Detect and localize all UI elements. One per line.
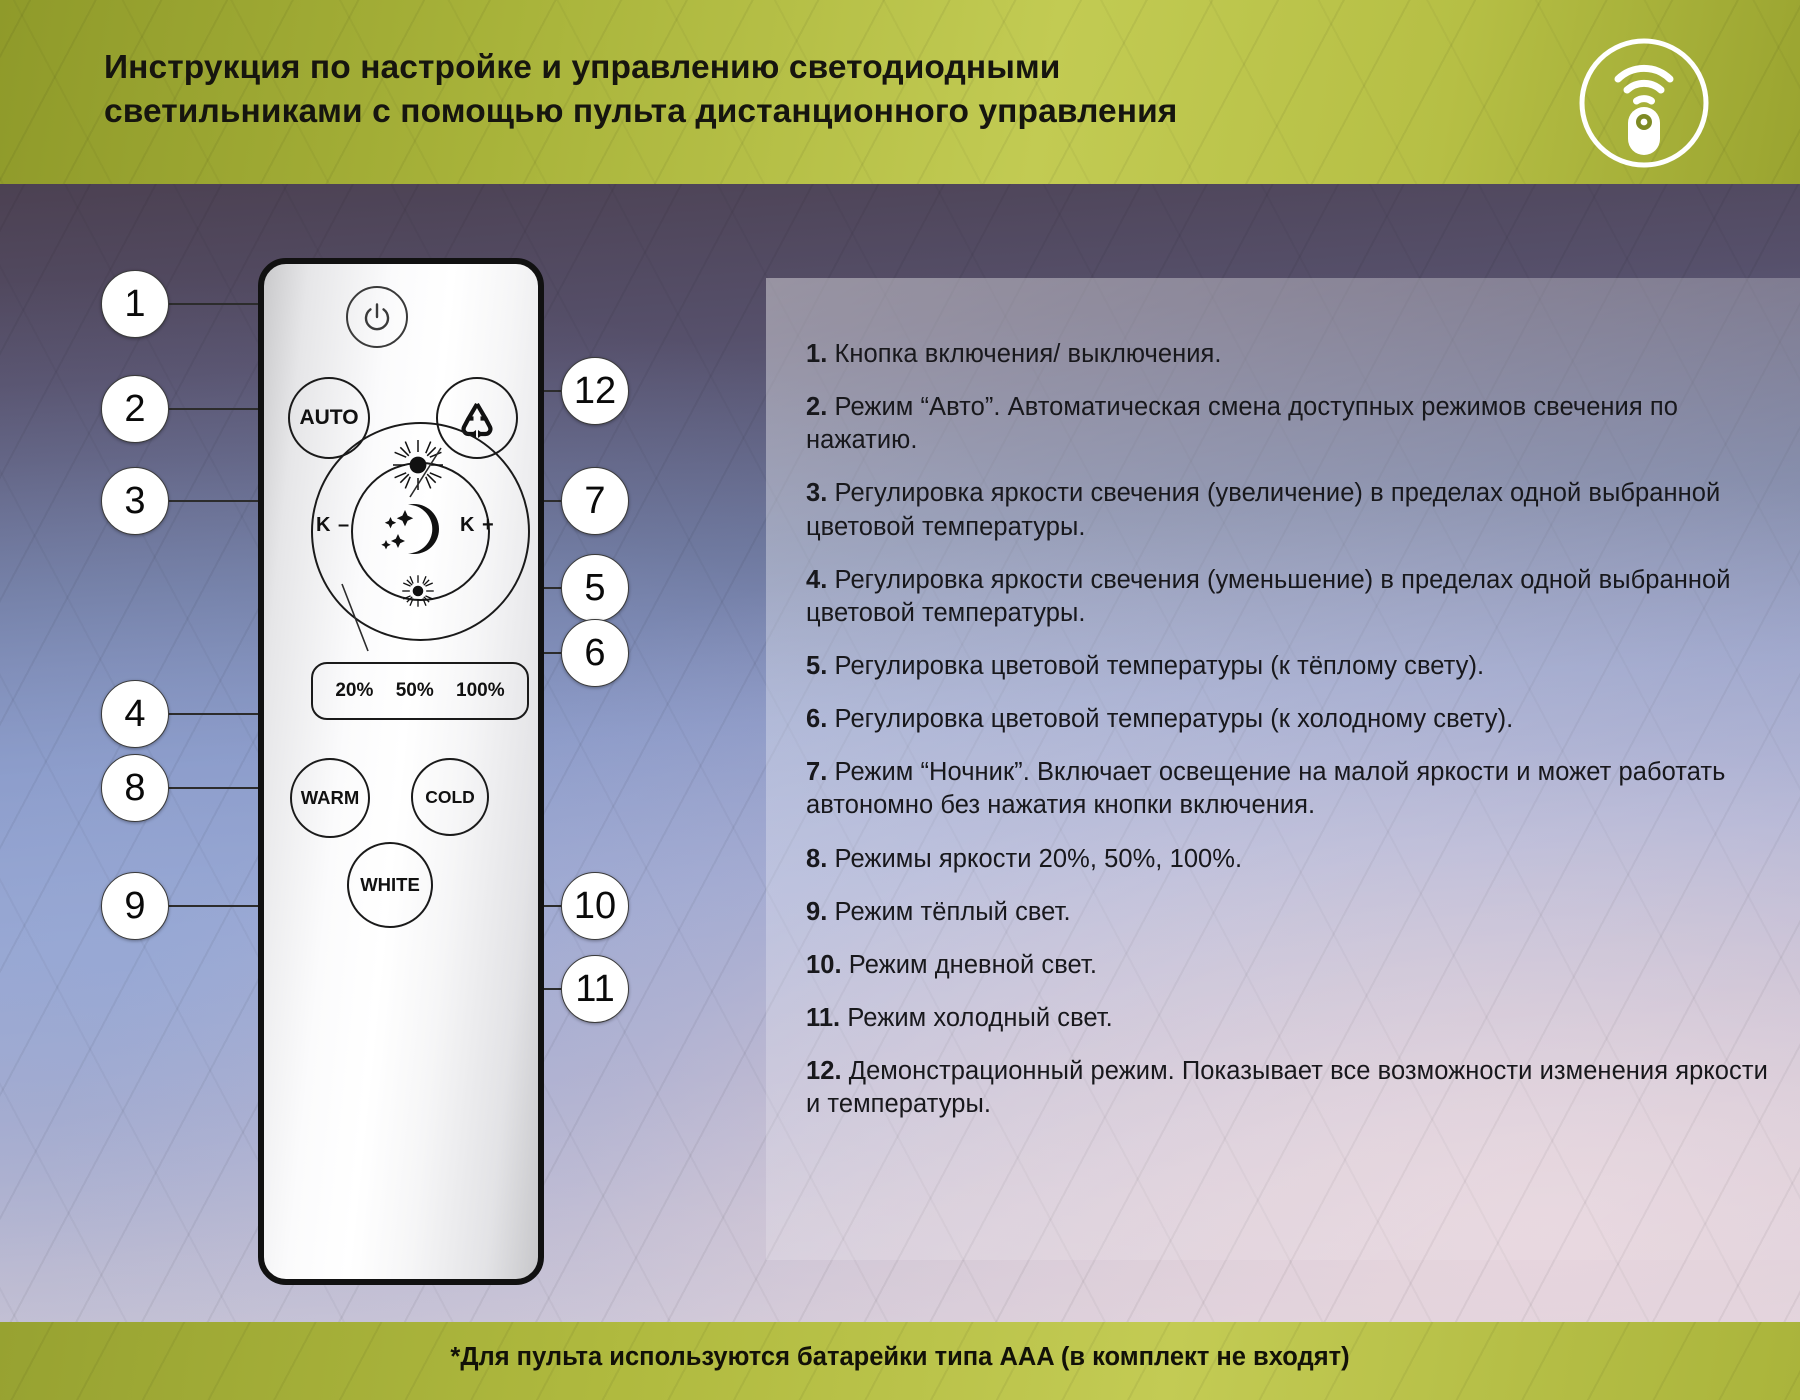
callout-1: 1 xyxy=(101,270,169,338)
list-item: 8. Режимы яркости 20%, 50%, 100%. xyxy=(806,843,1768,876)
list-item: 9. Режим тёплый свет. xyxy=(806,896,1768,929)
brightness-presets-bar[interactable]: 20% 50% 100% xyxy=(311,662,529,720)
list-item: 12. Демонстрационный режим. Показывает в… xyxy=(806,1055,1768,1121)
legend-text: Регулировка яркости свечения (уменьшение… xyxy=(806,566,1731,627)
sun-dim-icon xyxy=(401,574,435,608)
cold-label: COLD xyxy=(425,787,475,808)
brightness-down-button[interactable] xyxy=(401,574,435,608)
callout-8: 8 xyxy=(101,754,169,822)
list-item: 6. Регулировка цветовой температуры (к х… xyxy=(806,703,1768,736)
list-item: 4. Регулировка яркости свечения (уменьше… xyxy=(806,564,1768,630)
legend-number: 1. xyxy=(806,340,827,368)
list-item: 11. Режим холодный свет. xyxy=(806,1002,1768,1035)
white-label: WHITE xyxy=(360,874,420,896)
warm-label: WARM xyxy=(301,787,360,809)
power-icon xyxy=(360,300,394,334)
callout-9: 9 xyxy=(101,872,169,940)
legend-text: Режим “Ночник”. Включает освещение на ма… xyxy=(806,758,1725,819)
callout-3: 3 xyxy=(101,467,169,535)
legend-text: Кнопка включения/ выключения. xyxy=(835,340,1222,368)
callout-11: 11 xyxy=(561,955,629,1023)
power-button[interactable] xyxy=(346,286,408,348)
infographic-page: Инструкция по настройке и управлению све… xyxy=(0,0,1800,1400)
list-item: 5. Регулировка цветовой температуры (к т… xyxy=(806,650,1768,683)
white-button[interactable]: WHITE xyxy=(347,842,433,928)
brightness-up-button[interactable] xyxy=(391,438,445,492)
legend-text: Режим холодный свет. xyxy=(847,1004,1112,1032)
preset-100-button[interactable]: 100% xyxy=(456,680,505,702)
list-item: 2. Режим “Авто”. Автоматическая смена до… xyxy=(806,391,1768,457)
warm-button[interactable]: WARM xyxy=(290,758,370,838)
callout-2: 2 xyxy=(101,375,169,443)
callout-4: 4 xyxy=(101,680,169,748)
sun-bright-icon xyxy=(391,438,445,492)
page-title-line-2: светильниками с помощью пульта дистанцио… xyxy=(104,90,1484,134)
leader-line-9 xyxy=(167,905,271,907)
remote-control-body: AUTO xyxy=(258,258,544,1285)
callout-10: 10 xyxy=(561,872,629,940)
callout-6: 6 xyxy=(561,619,629,687)
list-item: 3. Регулировка яркости свечения (увеличе… xyxy=(806,477,1768,543)
legend-number: 10. xyxy=(806,951,842,979)
leader-line-2 xyxy=(167,408,267,410)
legend-number: 12. xyxy=(806,1057,842,1085)
callout-12: 12 xyxy=(561,357,629,425)
list-item: 7. Режим “Ночник”. Включает освещение на… xyxy=(806,756,1768,822)
legend-number: 8. xyxy=(806,845,827,873)
list-item: 10. Режим дневной свет. xyxy=(806,949,1768,982)
legend-text: Демонстрационный режим. Показывает все в… xyxy=(806,1057,1768,1118)
legend-number: 9. xyxy=(806,898,827,926)
legend-text: Регулировка цветовой температуры (к тёпл… xyxy=(835,652,1485,680)
list-item: 1. Кнопка включения/ выключения. xyxy=(806,338,1768,371)
legend-text: Регулировка яркости свечения (увеличение… xyxy=(806,479,1720,540)
battery-note: *Для пульта используются батарейки типа … xyxy=(0,1343,1800,1372)
legend-text: Регулировка цветовой температуры (к холо… xyxy=(835,705,1514,733)
auto-label: AUTO xyxy=(299,406,358,430)
legend-list: 1. Кнопка включения/ выключения. 2. Режи… xyxy=(806,338,1768,1141)
color-temp-cooler-button[interactable]: K + xyxy=(460,514,495,537)
legend-number: 3. xyxy=(806,479,827,507)
page-title: Инструкция по настройке и управлению све… xyxy=(104,46,1484,134)
legend-text: Режим “Авто”. Автоматическая смена досту… xyxy=(806,393,1678,454)
page-title-line-1: Инструкция по настройке и управлению све… xyxy=(104,46,1484,90)
legend-number: 4. xyxy=(806,566,827,594)
legend-text: Режим дневной свет. xyxy=(849,951,1097,979)
legend-number: 2. xyxy=(806,393,827,421)
legend-number: 5. xyxy=(806,652,827,680)
remote-signal-icon xyxy=(1572,31,1716,175)
legend-number: 6. xyxy=(806,705,827,733)
legend-number: 11. xyxy=(806,1004,840,1032)
moon-stars-icon xyxy=(377,488,459,570)
callout-7: 7 xyxy=(561,467,629,535)
callout-5: 5 xyxy=(561,554,629,622)
preset-50-button[interactable]: 50% xyxy=(396,680,434,702)
color-temp-warmer-button[interactable]: K – xyxy=(316,514,350,537)
legend-text: Режимы яркости 20%, 50%, 100%. xyxy=(835,845,1243,873)
legend-number: 7. xyxy=(806,758,827,786)
preset-20-button[interactable]: 20% xyxy=(335,680,373,702)
legend-text: Режим тёплый свет. xyxy=(835,898,1071,926)
night-mode-icon-wrap xyxy=(377,488,459,570)
cold-button[interactable]: COLD xyxy=(411,758,489,836)
leader-line-8 xyxy=(167,787,271,789)
